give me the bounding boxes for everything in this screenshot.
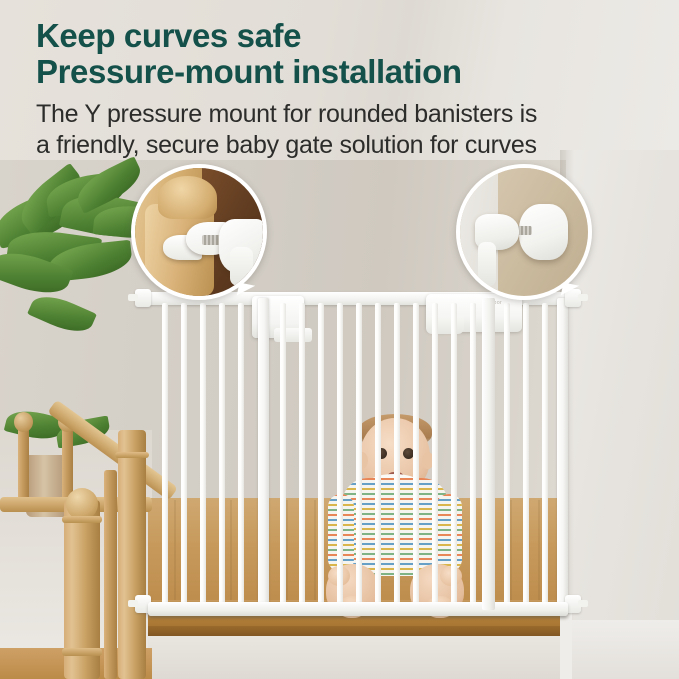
y-mount-stem: [230, 247, 253, 285]
newel-post: [118, 430, 146, 679]
baby-onesie: [342, 478, 448, 576]
gate-hinge-post: [258, 298, 269, 610]
gate-bar: [523, 303, 529, 604]
callout-wall-cup-mount: [456, 164, 592, 300]
newel-collar: [115, 452, 149, 458]
baby-hand: [328, 566, 350, 586]
newel-collar: [62, 516, 102, 523]
baby-arm: [436, 494, 462, 572]
gate-bar: [504, 303, 510, 604]
baby-foot: [426, 596, 454, 618]
copy-block: Keep curves safe Pressure-mount installa…: [36, 18, 616, 161]
baby-eye: [376, 448, 387, 459]
gate-bar: [280, 303, 286, 604]
gate-latch-post: [482, 298, 495, 610]
onesie-stripes: [436, 494, 462, 572]
banister-post-cap: [158, 176, 217, 220]
baby: [330, 418, 460, 618]
gate-bar: [470, 303, 476, 604]
headline-line-1: Keep curves safe: [36, 18, 616, 54]
baseboard: [148, 636, 568, 679]
subhead-line-1: The Y pressure mount for rounded baniste…: [36, 99, 616, 130]
subhead: The Y pressure mount for rounded baniste…: [36, 99, 616, 161]
callout-y-mount-on-banister: [131, 164, 267, 300]
baby-foot: [338, 596, 366, 618]
product-marketing-image: Keep curves safe Pressure-mount installa…: [0, 0, 679, 679]
gate-bar: [299, 303, 305, 604]
headline-line-2: Pressure-mount installation: [36, 54, 616, 90]
baby-ear: [356, 452, 368, 469]
gate-bar: [542, 303, 548, 604]
gate-bar: [200, 303, 206, 604]
headline: Keep curves safe Pressure-mount installa…: [36, 18, 616, 90]
gate-bar: [219, 303, 225, 604]
wall-corner-trim: [560, 612, 572, 679]
pressure-mount-pin: [128, 600, 138, 607]
gate-bar: [318, 303, 324, 604]
baseboard-right: [566, 620, 679, 679]
gate-latch-recess: [426, 316, 464, 334]
gate-end-post: [557, 298, 568, 610]
newel-collar: [62, 648, 102, 656]
baby-ear: [422, 452, 434, 469]
gate-bar: [162, 303, 168, 604]
baby-hand: [440, 566, 462, 586]
pressure-mount-pin: [578, 600, 588, 607]
pressure-knob-stem: [478, 242, 496, 286]
onesie-stripes: [328, 494, 354, 572]
baluster: [104, 470, 117, 679]
gate-bar: [181, 303, 187, 604]
subhead-line-2: a friendly, secure baby gate solution fo…: [36, 130, 616, 161]
onesie-stripes: [342, 478, 448, 576]
baby-arm: [328, 494, 354, 572]
gate-bar: [238, 303, 244, 604]
baby-eye: [403, 448, 414, 459]
